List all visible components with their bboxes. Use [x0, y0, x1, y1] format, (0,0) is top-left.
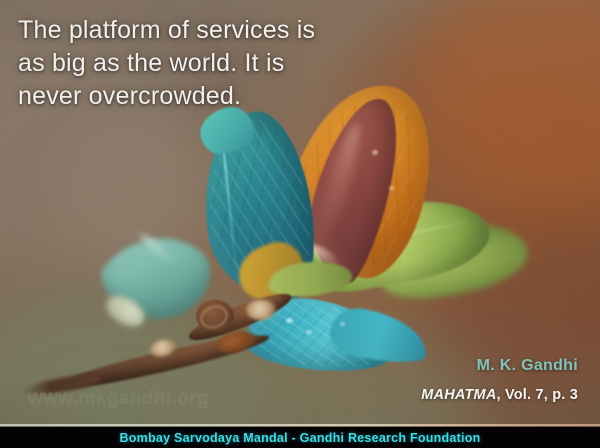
background-photo: The platform of services is as big as th…	[0, 0, 600, 427]
source-volume-page: , Vol. 7, p. 3	[497, 387, 579, 403]
dew-drop	[389, 186, 394, 190]
source-citation: MAHATMA, Vol. 7, p. 3	[421, 387, 578, 403]
footer-organization-text: Bombay Sarvodaya Mandal - Gandhi Researc…	[120, 431, 481, 445]
quote-text: The platform of services is as big as th…	[18, 14, 378, 113]
site-watermark: www.mkgandhi.org	[28, 387, 209, 409]
dew-drop	[340, 322, 345, 326]
source-book-title: MAHATMA	[421, 387, 496, 403]
author-attribution: M. K. Gandhi	[477, 357, 578, 375]
quote-poster: The platform of services is as big as th…	[0, 0, 600, 448]
dew-drop	[286, 318, 293, 323]
twig-node-pale	[246, 300, 276, 320]
bokeh-blob	[420, 0, 600, 210]
dew-drop	[306, 330, 312, 334]
footer-bar: Bombay Sarvodaya Mandal - Gandhi Researc…	[0, 427, 600, 448]
footer-divider-rule	[0, 424, 600, 426]
dew-drop	[372, 150, 378, 155]
